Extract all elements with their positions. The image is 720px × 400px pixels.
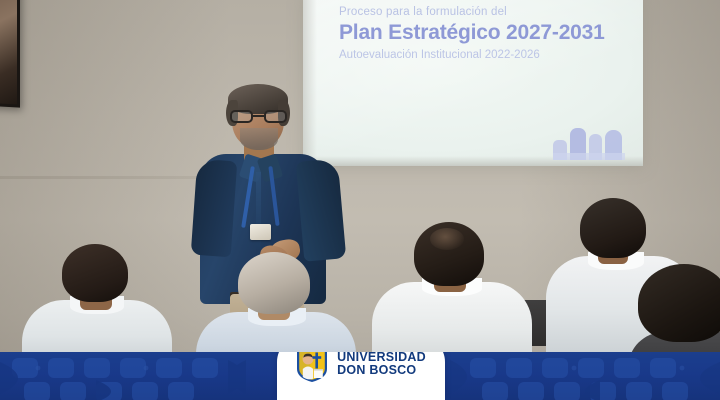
brand-name-line-2: DON BOSCO [337,364,426,377]
slide-decoration-graphic [553,118,625,160]
slide-subtitle: Autoevaluación Institucional 2022-2026 [339,49,631,61]
glasses-lens-right [264,110,287,123]
audience-member-5 [628,264,720,364]
audience-5-head [638,264,720,342]
brand-wordmark: UNIVERSIDAD DON BOSCO [337,352,426,377]
audience-3-crown-highlight [430,228,464,250]
slide-deco-baseline [553,153,625,160]
wall-art-canvas [0,0,17,104]
slide-title: Plan Estratégico 2027-2031 [339,21,631,45]
glasses-lens-left [230,110,253,123]
presenter-beard [240,128,278,150]
audience-2-head [238,252,310,314]
presenter-shoulder-right [296,158,347,261]
audience-4-head [580,198,646,258]
don-bosco-crest-icon [296,352,328,383]
slide-text-block: Proceso para la formulación del Plan Est… [339,6,631,61]
audience-1-head [62,244,128,302]
audience-member-1 [22,244,172,354]
presenter-glasses [230,110,287,123]
brand-band: UNIVERSIDAD DON BOSCO [0,352,720,400]
presenter-id-badge [250,224,271,240]
projection-screen: Proceso para la formulación del Plan Est… [303,0,643,166]
audience-member-2 [196,252,356,357]
audience-member-3 [372,222,532,352]
glasses-bridge [253,115,264,117]
presenter-shoulder-left [191,159,238,258]
screenshot-root: Proceso para la formulación del Plan Est… [0,0,720,400]
slide-kicker: Proceso para la formulación del [339,6,631,18]
wall-art-frame [0,0,20,108]
brand-logo-plate: UNIVERSIDAD DON BOSCO [277,352,445,400]
